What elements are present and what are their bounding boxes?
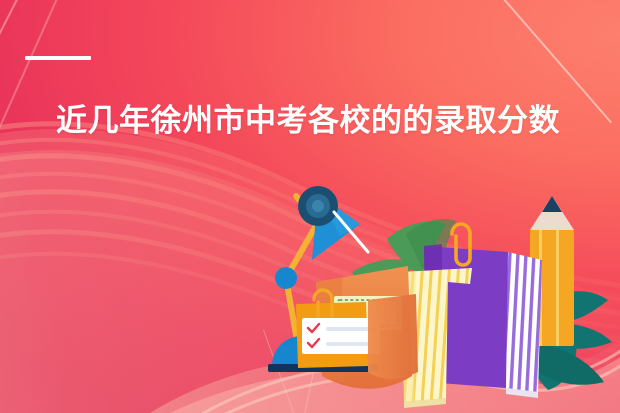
school-supplies-illustration	[256, 176, 620, 413]
article-banner: 近几年徐州市中考各校的的录取分数	[0, 0, 620, 413]
accent-rule	[25, 56, 91, 60]
page-title: 近几年徐州市中考各校的的录取分数	[56, 99, 596, 143]
orange-sheet-front	[368, 294, 418, 379]
